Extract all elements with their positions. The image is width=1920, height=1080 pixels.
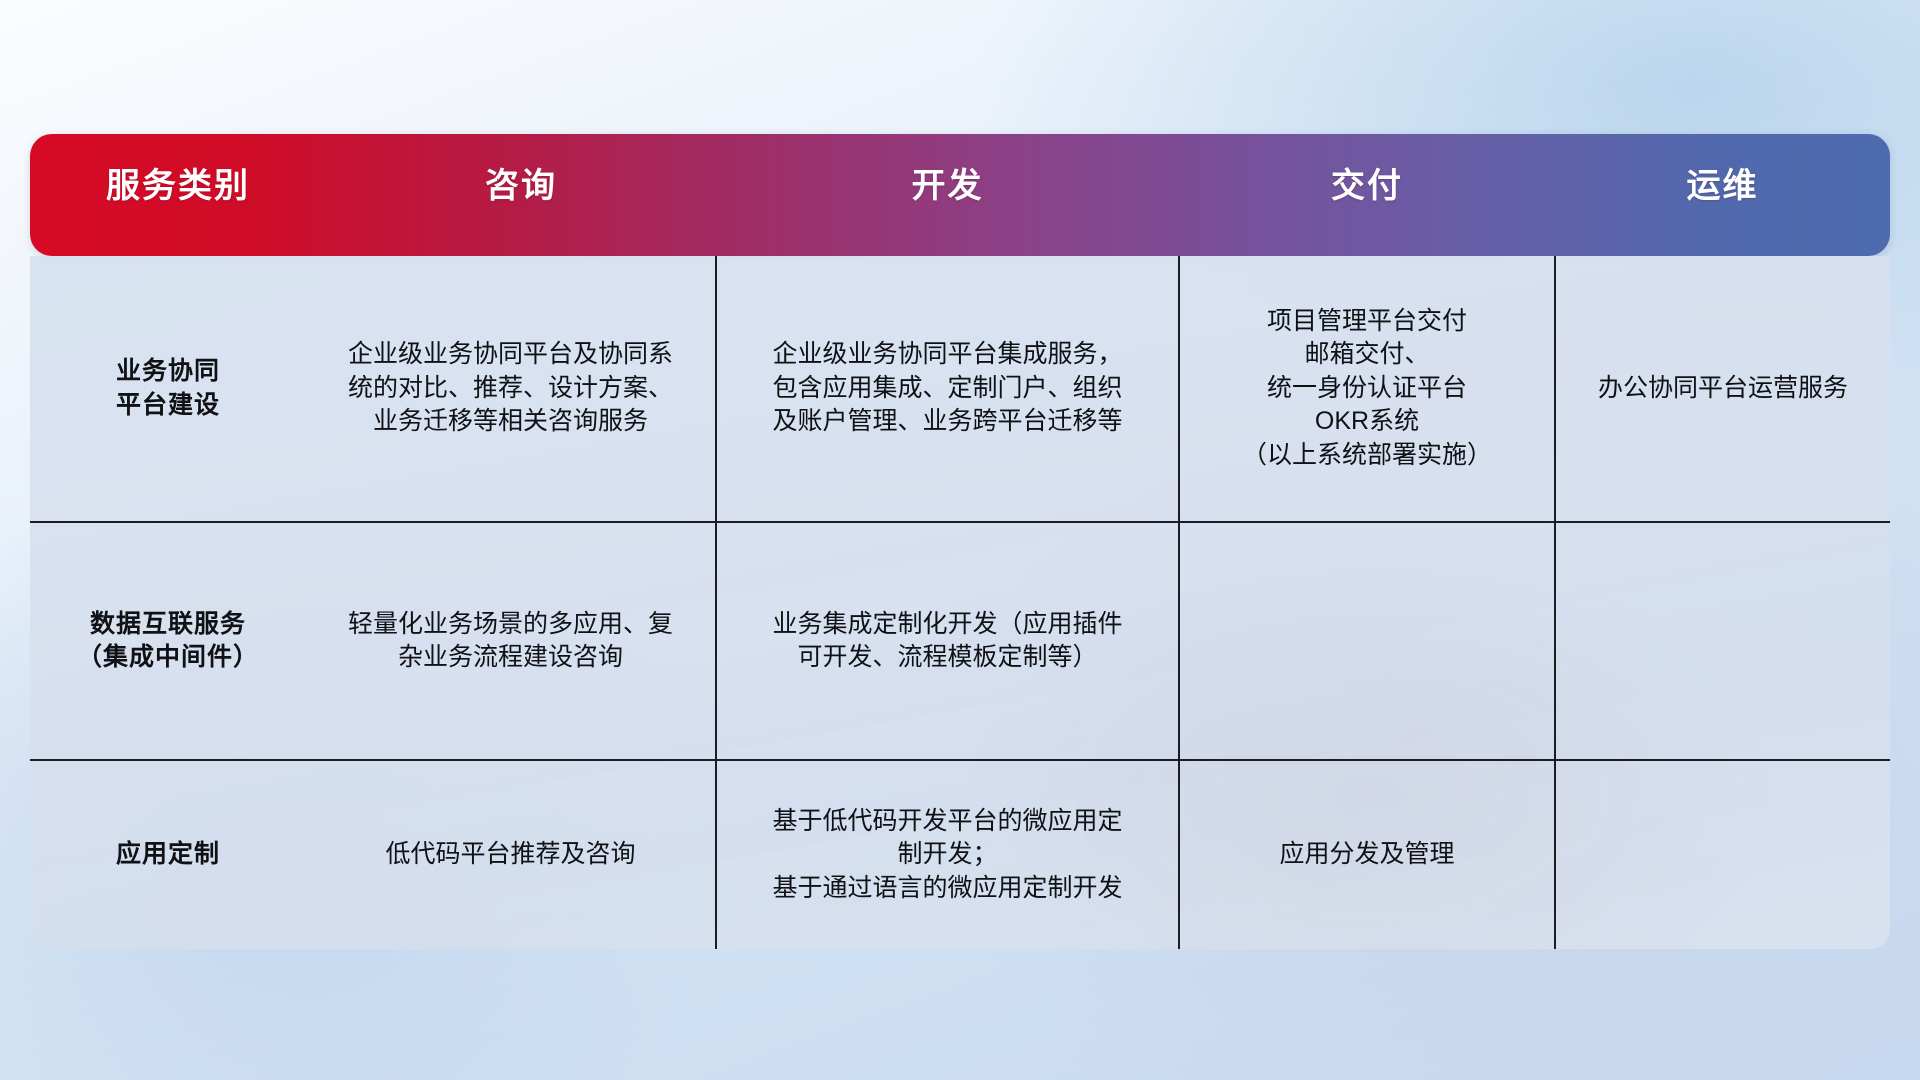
- header-cell-development: 开发: [716, 134, 1179, 256]
- cell-delivery-0: 项目管理平台交付 邮箱交付、 统一身份认证平台 OKR系统 （以上系统部署实施）: [1179, 256, 1555, 522]
- cell-development-0: 企业级业务协同平台集成服务， 包含应用集成、定制门户、组织 及账户管理、业务跨平…: [716, 256, 1179, 522]
- table-row: 业务协同 平台建设 企业级业务协同平台及协同系 统的对比、推荐、设计方案、 业务…: [30, 256, 1890, 522]
- row-category-label-2: 应用定制: [30, 760, 306, 949]
- table-row: 数据互联服务 （集成中间件） 轻量化业务场景的多应用、复 杂业务流程建设咨询 业…: [30, 522, 1890, 760]
- header-cell-delivery: 交付: [1179, 134, 1555, 256]
- cell-development-1: 业务集成定制化开发（应用插件 可开发、流程模板定制等）: [716, 522, 1179, 760]
- cell-operations-2: [1555, 760, 1890, 949]
- row-category-label-1: 数据互联服务 （集成中间件）: [30, 522, 306, 760]
- cell-operations-0: 办公协同平台运营服务: [1555, 256, 1890, 522]
- table-body: 业务协同 平台建设 企业级业务协同平台及协同系 统的对比、推荐、设计方案、 业务…: [30, 256, 1890, 949]
- row-category-text-0: 业务协同 平台建设: [44, 355, 292, 422]
- table-header-row: 服务类别 咨询 开发 交付 运维: [30, 134, 1890, 256]
- header-cell-category: 服务类别: [30, 134, 326, 256]
- row-category-text-2: 应用定制: [44, 838, 292, 872]
- row-category-text-1: 数据互联服务 （集成中间件）: [44, 608, 292, 675]
- cell-consulting-0: 企业级业务协同平台及协同系 统的对比、推荐、设计方案、 业务迁移等相关咨询服务: [306, 256, 716, 522]
- cell-delivery-2: 应用分发及管理: [1179, 760, 1555, 949]
- service-matrix-table: 服务类别 咨询 开发 交付 运维 业务协同 平台建设 企业级业务协同平台及协同系…: [30, 134, 1890, 949]
- table-row: 应用定制 低代码平台推荐及咨询 基于低代码开发平台的微应用定 制开发； 基于通过…: [30, 760, 1890, 949]
- cell-consulting-2: 低代码平台推荐及咨询: [306, 760, 716, 949]
- header-cell-consulting: 咨询: [326, 134, 716, 256]
- header-cell-operations: 运维: [1555, 134, 1890, 256]
- cell-development-2: 基于低代码开发平台的微应用定 制开发； 基于通过语言的微应用定制开发: [716, 760, 1179, 949]
- cell-operations-1: [1555, 522, 1890, 760]
- cell-consulting-1: 轻量化业务场景的多应用、复 杂业务流程建设咨询: [306, 522, 716, 760]
- table-body-panel: 业务协同 平台建设 企业级业务协同平台及协同系 统的对比、推荐、设计方案、 业务…: [30, 256, 1890, 949]
- cell-delivery-1: [1179, 522, 1555, 760]
- row-category-label-0: 业务协同 平台建设: [30, 256, 306, 522]
